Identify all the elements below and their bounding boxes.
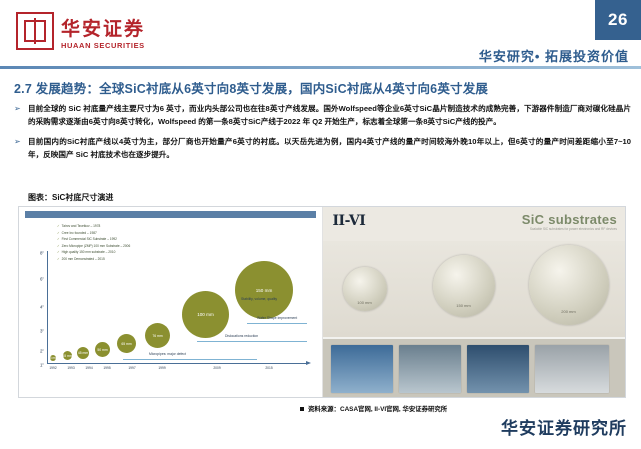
photo-wafer-band: 100 mm 150 mm 200 mm [323, 241, 626, 337]
chart-x-axis: 1992 1993 1994 1995 1997 1999 2009 2015 [47, 363, 307, 364]
wafer-label: 200 mm [561, 309, 575, 314]
bubble-label: 45 mm [78, 351, 88, 355]
body-content: ➢ 目前全球的 SiC 衬底量产线主要尺寸为6 英寸，而业内头部公司也在往8英寸… [14, 102, 631, 167]
header-tagline: 华安研究• 拓展投资价值 [479, 46, 629, 65]
header-divider [0, 66, 641, 69]
data-bubble: 35 mm [63, 351, 72, 360]
bubble-label: 65 mm [121, 342, 131, 346]
page-title: 2.7 发展趋势：全球SiC衬底从6英寸向8英寸发展，国内SiC衬底从4英寸向6… [14, 78, 627, 97]
data-bubble: 45 mm [77, 347, 89, 359]
bullet-text: 目前全球的 SiC 衬底量产线主要尺寸为6 英寸，而业内头部公司也在往8英寸产线… [28, 102, 631, 129]
x-axis-tick: 1997 [128, 366, 135, 370]
bubble-label: 25 mm [48, 356, 58, 360]
photo-subtitle: Scalable SiC substrates for power electr… [530, 227, 617, 231]
chart-annotation: Stability, volume, quality [241, 297, 277, 301]
source-text: 资料来源：CASA官网, II-VI官网, 华安证券研究所 [308, 404, 447, 413]
wafer-label: 150 mm [456, 303, 470, 308]
source-note: 资料来源：CASA官网, II-VI官网, 华安证券研究所 [300, 404, 447, 413]
y-axis-tick: 3" [40, 329, 44, 334]
wafer-image: 150 mm [433, 255, 495, 317]
x-axis-tick: 1993 [67, 366, 74, 370]
bullet-text: 目前国内的SiC衬底产线以4英寸为主，部分厂商也开始量产6英寸的衬底。以天岳先进… [28, 135, 631, 162]
wafer-image: 100 mm [343, 267, 387, 311]
footer-brand: 华安证券研究所 [501, 414, 627, 439]
logo-chinese-name: 华安证券 [61, 20, 145, 39]
legend-item: 200 mm Demonstrated – 2015 [57, 256, 130, 263]
bubble-label: 35 mm [62, 354, 72, 358]
data-bubble: 50 mm [95, 342, 110, 357]
company-logo: 华安证券 HUAAN SECURITIES [16, 12, 145, 50]
bubble-label: 200 mm [171, 269, 188, 274]
y-axis-tick: 2" [40, 349, 44, 354]
bullet-marker-icon: ➢ [14, 135, 28, 148]
photo-panel: II-VI SiC substrates Scalable SiC substr… [322, 207, 626, 397]
x-axis-tick: 2009 [213, 366, 220, 370]
photo-thumb [467, 345, 529, 393]
chart-annotation: Micropipes: major defect [149, 352, 186, 356]
chart-legend: Tairov and Tsvetkov – 1978 Cree Inc foun… [57, 223, 130, 262]
bullet-item: ➢ 目前全球的 SiC 衬底量产线主要尺寸为6 英寸，而业内头部公司也在往8英寸… [14, 102, 631, 129]
chart-y-axis: 8" 6" 4" 3" 2" 1" [47, 251, 48, 363]
y-axis-tick: 1" [40, 363, 44, 368]
data-bubble: 76 mm [145, 323, 170, 348]
x-axis-tick: 1999 [158, 366, 165, 370]
y-axis-tick: 4" [40, 305, 44, 310]
chart-title-bar [25, 211, 316, 218]
bullet-square-icon [300, 407, 304, 411]
x-axis-tick: 2015 [265, 366, 272, 370]
wafer-label: 100 mm [357, 300, 371, 305]
data-bubble: 150 mm [235, 261, 293, 319]
bubble-label: 100 mm [197, 312, 214, 317]
bubble-label: 150 mm [256, 288, 273, 293]
data-bubble: 100 mm [182, 291, 229, 338]
bubble-label: 76 mm [152, 334, 162, 338]
logo-mark-icon [16, 12, 54, 50]
chart-annotation: Wafer Shape improvement [257, 316, 297, 320]
wafer-image: 200 mm [529, 245, 609, 325]
photo-footer [323, 339, 626, 397]
photo-brand-logo: II-VI [333, 213, 366, 229]
bubble-chart: Tairov and Tsvetkov – 1978 Cree Inc foun… [19, 207, 322, 397]
photo-thumb [535, 345, 609, 393]
x-axis-tick: 1995 [103, 366, 110, 370]
photo-thumb [331, 345, 393, 393]
slide: 26 华安证券 HUAAN SECURITIES 华安研究• 拓展投资价值 2.… [0, 0, 641, 449]
figure-caption: 图表：SiC衬底尺寸演进 [28, 192, 113, 203]
x-axis-tick: 1992 [49, 366, 56, 370]
y-axis-tick: 8" [40, 251, 44, 256]
bullet-item: ➢ 目前国内的SiC衬底产线以4英寸为主，部分厂商也开始量产6英寸的衬底。以天岳… [14, 135, 631, 162]
bubble-label: 50 mm [97, 348, 107, 352]
logo-english-name: HUAAN SECURITIES [61, 42, 145, 50]
y-axis-tick: 6" [40, 277, 44, 282]
photo-thumb [399, 345, 461, 393]
figure-container: Tairov and Tsvetkov – 1978 Cree Inc foun… [18, 206, 626, 398]
photo-title: SiC substrates [522, 212, 617, 227]
bullet-marker-icon: ➢ [14, 102, 28, 115]
page-number-badge: 26 [595, 0, 641, 40]
data-bubble: 25 mm [50, 355, 56, 361]
x-axis-tick: 1994 [85, 366, 92, 370]
chart-annotation: Dislocations reduction [225, 334, 258, 338]
data-bubble: 65 mm [117, 334, 136, 353]
